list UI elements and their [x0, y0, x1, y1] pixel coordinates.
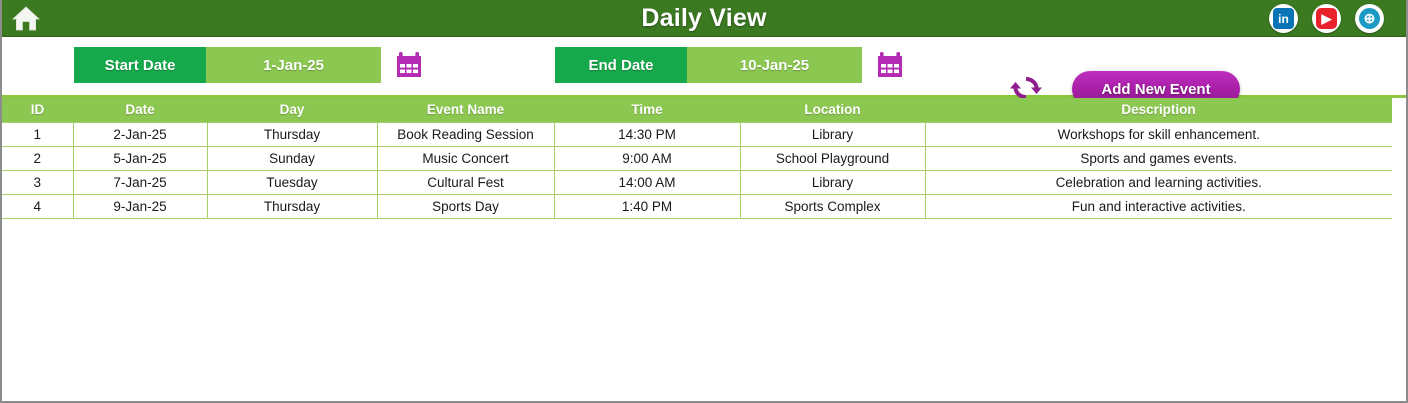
column-header-date[interactable]: Date [73, 98, 207, 122]
table-row[interactable]: 4 9-Jan-25 Thursday Sports Day 1:40 PM S… [2, 194, 1392, 218]
end-date-group: End Date 10-Jan-25 [555, 47, 905, 83]
end-calendar-icon[interactable] [875, 50, 905, 80]
start-date-label: Start Date [74, 47, 206, 83]
linkedin-icon: in [1273, 8, 1294, 29]
table-header-row: ID Date Day Event Name Time Location Des… [2, 98, 1392, 122]
end-date-input[interactable]: 10-Jan-25 [687, 47, 862, 83]
cell-time: 14:00 AM [554, 170, 740, 194]
linkedin-button[interactable]: in [1269, 4, 1298, 33]
empty-canvas-area [2, 219, 1406, 399]
website-icon: ⊕ [1359, 8, 1380, 29]
cell-date: 5-Jan-25 [73, 146, 207, 170]
column-header-event[interactable]: Event Name [377, 98, 554, 122]
cell-description: Celebration and learning activities. [925, 170, 1392, 194]
cell-location: Library [740, 170, 925, 194]
column-header-location[interactable]: Location [740, 98, 925, 122]
cell-description: Workshops for skill enhancement. [925, 122, 1392, 146]
column-header-description[interactable]: Description [925, 98, 1392, 122]
cell-location: School Playground [740, 146, 925, 170]
website-button[interactable]: ⊕ [1355, 4, 1384, 33]
start-calendar-icon[interactable] [394, 50, 424, 80]
cell-location: Library [740, 122, 925, 146]
cell-date: 2-Jan-25 [73, 122, 207, 146]
social-links: in ▶ ⊕ [1269, 4, 1384, 33]
cell-event: Cultural Fest [377, 170, 554, 194]
cell-time: 9:00 AM [554, 146, 740, 170]
cell-event: Book Reading Session [377, 122, 554, 146]
column-header-id[interactable]: ID [2, 98, 73, 122]
cell-event: Sports Day [377, 194, 554, 218]
daily-view-app: Daily View in ▶ ⊕ Start Date 1-Jan-25 [0, 0, 1408, 403]
filter-toolbar: Start Date 1-Jan-25 [2, 37, 1406, 98]
cell-time: 14:30 PM [554, 122, 740, 146]
column-header-day[interactable]: Day [207, 98, 377, 122]
home-icon[interactable] [10, 3, 42, 33]
column-header-time[interactable]: Time [554, 98, 740, 122]
cell-id: 4 [2, 194, 73, 218]
cell-location: Sports Complex [740, 194, 925, 218]
youtube-icon: ▶ [1316, 8, 1337, 29]
events-table: ID Date Day Event Name Time Location Des… [2, 98, 1392, 219]
cell-day: Thursday [207, 122, 377, 146]
table-row[interactable]: 2 5-Jan-25 Sunday Music Concert 9:00 AM … [2, 146, 1392, 170]
cell-id: 2 [2, 146, 73, 170]
cell-date: 7-Jan-25 [73, 170, 207, 194]
page-title: Daily View [2, 0, 1406, 36]
cell-day: Thursday [207, 194, 377, 218]
events-table-wrapper: ID Date Day Event Name Time Location Des… [2, 98, 1406, 399]
end-date-label: End Date [555, 47, 687, 83]
cell-day: Tuesday [207, 170, 377, 194]
cell-id: 1 [2, 122, 73, 146]
youtube-button[interactable]: ▶ [1312, 4, 1341, 33]
cell-event: Music Concert [377, 146, 554, 170]
cell-day: Sunday [207, 146, 377, 170]
title-bar: Daily View in ▶ ⊕ [2, 0, 1406, 37]
start-date-group: Start Date 1-Jan-25 [74, 47, 424, 83]
table-row[interactable]: 3 7-Jan-25 Tuesday Cultural Fest 14:00 A… [2, 170, 1392, 194]
start-date-input[interactable]: 1-Jan-25 [206, 47, 381, 83]
cell-time: 1:40 PM [554, 194, 740, 218]
table-row[interactable]: 1 2-Jan-25 Thursday Book Reading Session… [2, 122, 1392, 146]
cell-description: Fun and interactive activities. [925, 194, 1392, 218]
cell-date: 9-Jan-25 [73, 194, 207, 218]
cell-id: 3 [2, 170, 73, 194]
cell-description: Sports and games events. [925, 146, 1392, 170]
